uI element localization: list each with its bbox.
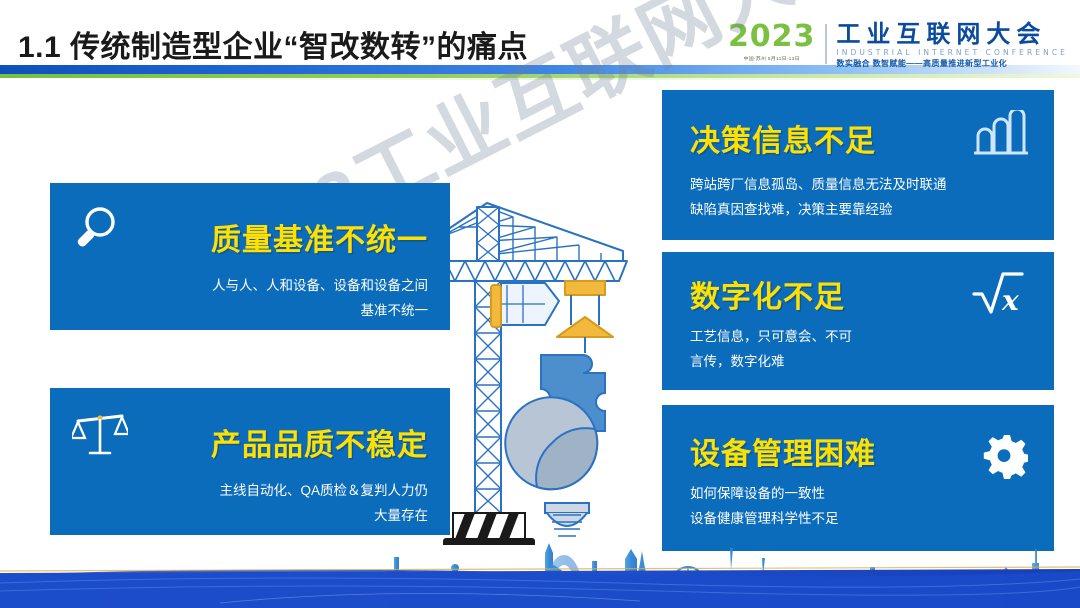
panel-body-line: 主线自动化、QA质检＆复判人力仍 bbox=[219, 478, 428, 503]
conference-logo: 2023 中国·苏州 5月11日-13日 工业互联网大会 INDUSTRIAL … bbox=[728, 22, 1068, 70]
bar-chart-icon bbox=[974, 110, 1028, 161]
panel-body: 跨站跨厂信息孤岛、质量信息无法及时联通 缺陷真因查找难，决策主要靠经验 bbox=[690, 172, 947, 222]
logo-divider bbox=[825, 24, 827, 64]
gear-icon bbox=[980, 433, 1028, 486]
panel-body-line: 基准不统一 bbox=[212, 298, 428, 323]
logo-year: 2023 bbox=[728, 22, 816, 52]
balance-scale-icon bbox=[72, 412, 128, 467]
slide: 1.1 传统制造型企业“智改数转”的痛点 2023 中国·苏州 5月11日-13… bbox=[0, 0, 1080, 608]
panel-title: 质量基准不统一 bbox=[211, 215, 428, 259]
logo-name-cn: 工业互联网大会 bbox=[836, 22, 1068, 47]
panel-decision-info[interactable]: 决策信息不足 跨站跨厂信息孤岛、质量信息无法及时联通 缺陷真因查找难，决策主要靠… bbox=[662, 90, 1054, 240]
panel-body-line: 人与人、人和设备、设备和设备之间 bbox=[212, 273, 428, 298]
page-title: 1.1 传统制造型企业“智改数转”的痛点 bbox=[18, 22, 528, 66]
header-rule-green-light bbox=[0, 78, 1080, 80]
panel-digitalization[interactable]: x 数字化不足 工艺信息，只可意会、不可 言传，数字化难 bbox=[662, 252, 1054, 390]
logo-year-subtitle: 中国·苏州 5月11日-13日 bbox=[744, 55, 800, 61]
panel-body-line: 缺陷真因查找难，决策主要靠经验 bbox=[690, 197, 947, 222]
panel-title: 设备管理困难 bbox=[690, 429, 876, 473]
panel-title: 决策信息不足 bbox=[690, 116, 876, 160]
panel-title: 数字化不足 bbox=[690, 272, 845, 316]
panel-body-line: 如何保障设备的一致性 bbox=[690, 481, 839, 506]
panel-body-line: 跨站跨厂信息孤岛、质量信息无法及时联通 bbox=[690, 172, 947, 197]
magnifier-icon bbox=[72, 205, 120, 262]
footer-skyline bbox=[0, 513, 1080, 608]
panel-body-line: 言传，数字化难 bbox=[690, 349, 852, 374]
panel-title: 产品品质不稳定 bbox=[211, 420, 428, 464]
logo-year-block: 2023 中国·苏州 5月11日-13日 bbox=[728, 22, 826, 62]
panel-quality-baseline[interactable]: 质量基准不统一 人与人、人和设备、设备和设备之间 基准不统一 bbox=[50, 183, 450, 330]
logo-name-en: INDUSTRIAL INTERNET CONFERENCE bbox=[836, 47, 1068, 58]
panel-body: 工艺信息，只可意会、不可 言传，数字化难 bbox=[690, 324, 852, 374]
logo-slogan: 数实融合 数智赋能——高质量推进新型工业化 bbox=[836, 58, 1068, 69]
square-root-icon: x bbox=[972, 270, 1024, 323]
logo-text-block: 工业互联网大会 INDUSTRIAL INTERNET CONFERENCE 数… bbox=[836, 22, 1068, 69]
slide-header: 1.1 传统制造型企业“智改数转”的痛点 2023 中国·苏州 5月11日-13… bbox=[0, 0, 1080, 86]
panel-body: 人与人、人和设备、设备和设备之间 基准不统一 bbox=[212, 273, 428, 323]
svg-text:x: x bbox=[1001, 284, 1019, 317]
panel-body-line: 工艺信息，只可意会、不可 bbox=[690, 324, 852, 349]
